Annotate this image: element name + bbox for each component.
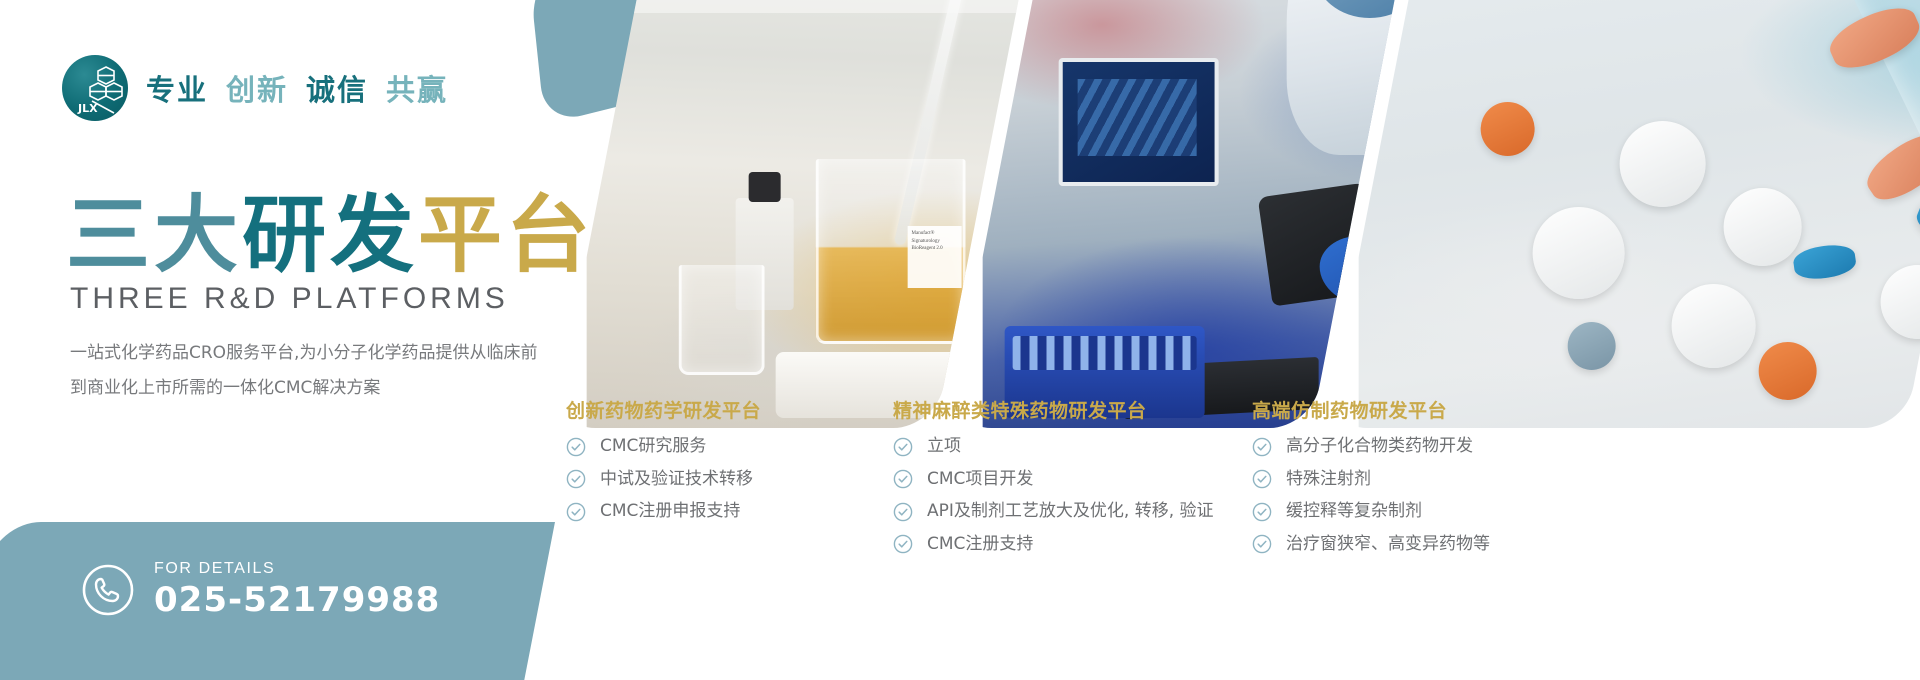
platform-item-label: CMC注册支持	[927, 532, 1033, 558]
phone-circle-icon	[80, 562, 136, 618]
platform-item[interactable]: CMC注册支持	[893, 532, 1214, 558]
platform-item[interactable]: 特殊注射剂	[1252, 467, 1490, 493]
platform-item-label: CMC项目开发	[927, 467, 1033, 493]
check-circle-icon	[566, 502, 586, 522]
page-subtitle: THREE R&D PLATFORMS	[70, 282, 509, 316]
title-part-3: 平台	[418, 186, 594, 284]
contact-phone-number[interactable]: 025-52179988	[154, 580, 440, 620]
platform-item-label: 高分子化合物类药物开发	[1286, 434, 1473, 460]
platform-item-label: CMC研究服务	[600, 434, 706, 460]
check-circle-icon	[1252, 469, 1272, 489]
slogan-word-2: 创新	[226, 67, 288, 109]
brand-logo-row: JLX 专业 创新 诚信 共赢	[62, 55, 466, 121]
check-circle-icon	[566, 469, 586, 489]
brand-slogan: 专业 创新 诚信 共赢	[146, 67, 466, 109]
platform-item[interactable]: 高分子化合物类药物开发	[1252, 434, 1490, 460]
platform-item[interactable]: 治疗窗狭窄、高变异药物等	[1252, 532, 1490, 558]
platform-item[interactable]: 立项	[893, 434, 1214, 460]
platform-item-label: 中试及验证技术转移	[600, 467, 753, 493]
check-circle-icon	[1252, 437, 1272, 457]
check-circle-icon	[566, 437, 586, 457]
platform-column-1: 创新药物药学研发平台 CMC研究服务 中试及验证技术转移 CMC注册申报支持	[566, 396, 761, 532]
laboratory-beaker-pipette-photo: Manufact®SignaturologyBioReagent 2.0	[553, 0, 1028, 428]
check-circle-icon	[1252, 502, 1272, 522]
check-circle-icon	[893, 469, 913, 489]
cleanroom-microscope-photo	[949, 0, 1404, 428]
platform-item[interactable]: API及制剂工艺放大及优化, 转移, 验证	[893, 499, 1214, 525]
platform-item-label: 治疗窗狭窄、高变异药物等	[1286, 532, 1490, 558]
contact-info[interactable]: FOR DETAILS 025-52179988	[80, 560, 440, 620]
molecule-hexagon-icon: JLX	[62, 55, 128, 121]
title-part-2: 研发	[242, 186, 418, 284]
platform-item-label: 立项	[927, 434, 961, 460]
platform-item[interactable]: 缓控释等复杂制剂	[1252, 499, 1490, 525]
platform-item[interactable]: CMC项目开发	[893, 467, 1214, 493]
title-part-1: 三大	[66, 186, 242, 284]
check-circle-icon	[893, 534, 913, 554]
pills-tablets-bottle-photo	[1325, 0, 1920, 428]
promo-banner: Manufact®SignaturologyBioReagent 2.0	[0, 0, 1920, 680]
platform-item-label: CMC注册申报支持	[600, 499, 740, 525]
platform-column-3: 高端仿制药物研发平台 高分子化合物类药物开发 特殊注射剂 缓控释等复杂制剂 治疗…	[1252, 396, 1490, 564]
check-circle-icon	[893, 437, 913, 457]
platform-item[interactable]: CMC注册申报支持	[566, 499, 761, 525]
page-description: 一站式化学药品CRO服务平台,为小分子化学药品提供从临床前到商业化上市所需的一体…	[70, 336, 540, 406]
platform-item-label: 特殊注射剂	[1286, 467, 1371, 493]
platform-title: 高端仿制药物研发平台	[1252, 396, 1490, 423]
slogan-word-4: 共赢	[386, 67, 448, 109]
platform-item[interactable]: CMC研究服务	[566, 434, 761, 460]
slogan-word-3: 诚信	[306, 67, 368, 109]
platform-item-label: 缓控释等复杂制剂	[1286, 499, 1422, 525]
check-circle-icon	[1252, 534, 1272, 554]
slogan-word-1: 专业	[146, 67, 208, 109]
platform-title: 精神麻醉类特殊药物研发平台	[893, 396, 1214, 423]
contact-label: FOR DETAILS	[154, 560, 440, 578]
platform-column-2: 精神麻醉类特殊药物研发平台 立项 CMC项目开发 API及制剂工艺放大及优化, …	[893, 396, 1214, 564]
page-title: 三大研发平台	[66, 168, 594, 289]
logo-text: JLX	[77, 102, 98, 115]
platform-item-label: API及制剂工艺放大及优化, 转移, 验证	[927, 499, 1214, 525]
platform-item[interactable]: 中试及验证技术转移	[566, 467, 761, 493]
platform-title: 创新药物药学研发平台	[566, 396, 761, 423]
check-circle-icon	[893, 502, 913, 522]
